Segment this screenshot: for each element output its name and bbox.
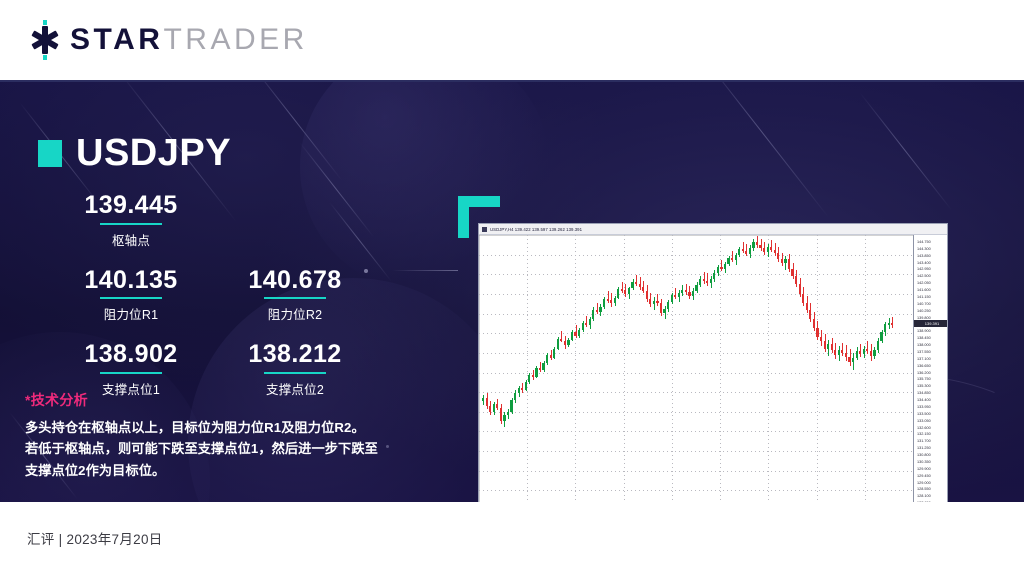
candle-body [735,255,737,260]
candle-body [564,341,566,345]
candle-body [856,351,858,358]
chart-gridline-horizontal [479,412,913,413]
left-panel: USDJPY 139.445 枢轴点 140.135 阻力位R1 140.678 [0,82,440,502]
candle-body [667,302,669,309]
pivot-row: 139.445 枢轴点 [38,192,398,253]
chart-gridline-horizontal [479,333,913,334]
candle-body [763,248,765,252]
chart-gridline-horizontal [479,314,913,315]
candle-body [610,300,612,303]
candle-body [557,339,559,349]
candle-body [788,259,790,269]
chart-title: USDJPY,H4 139.422 139.597 139.262 139.39… [490,227,582,232]
level-pivot-value: 139.445 [84,192,177,223]
candle-body [489,406,491,413]
chart-gridline-horizontal [479,471,913,472]
candle-body [514,393,516,400]
candle-wick [586,316,587,327]
candle-body [542,363,544,370]
candle-body [532,375,534,377]
candle-body [720,267,722,269]
candle-body [873,350,875,356]
chart-gridline-horizontal [479,373,913,374]
asterisk-star-icon [28,20,62,60]
candle-body [603,299,605,306]
candle-body [703,279,705,281]
price-axis-tick: 143.850 [917,254,931,258]
candle-body [770,247,772,250]
candle-body [774,250,776,254]
candle-body [582,323,584,330]
chart-gridline-vertical [624,235,625,502]
technical-analysis: *技术分析 多头持仓在枢轴点以上，目标位为阻力位R1及阻力位R2。 若低于枢轴点… [25,390,425,481]
chart-gridline-vertical [527,235,528,502]
candle-body [884,324,886,331]
price-axis-tick: 133.950 [917,405,931,409]
analysis-line-2: 若低于枢轴点，则可能下跌至支撑点位1，然后进一步下跌至 [25,438,425,459]
site-header: STARTRADER [0,0,1024,82]
candle-body [695,285,697,292]
candle-body [574,332,576,336]
candle-body [685,290,687,292]
chart-window-icon [482,227,487,232]
candle-body [888,323,890,325]
candle-body [607,299,609,301]
candle-body [614,298,616,303]
candle-wick [732,251,733,262]
candle-wick [704,272,705,284]
candle-body [738,249,740,255]
chart-gridline-horizontal [479,490,913,491]
candle-body [827,344,829,348]
price-axis-tick: 144.300 [917,247,931,251]
candle-body [624,290,626,294]
chart-gridline-vertical [575,235,576,502]
candle-body [710,279,712,283]
price-axis-tick: 134.850 [917,391,931,395]
main-stage: USDJPY 139.445 枢轴点 140.135 阻力位R1 140.678 [0,82,1024,502]
chart-gridline-horizontal [479,353,913,354]
candle-body [628,288,630,294]
candle-body [767,247,769,252]
price-axis-tick: 142.950 [917,267,931,271]
price-axis-tick: 141.150 [917,295,931,299]
candle-body [596,310,598,312]
chart-gridline-vertical [720,235,721,502]
candle-body [592,310,594,320]
candle-body [859,351,861,354]
chart-gridline-horizontal [479,451,913,452]
price-axis-tick: 135.750 [917,377,931,381]
candle-body [525,382,527,389]
level-underline [100,372,162,374]
price-axis-tick: 129.900 [917,467,931,471]
candle-body [784,259,786,263]
footer-caption: 汇评 | 2023年7月20日 [27,528,163,548]
candle-wick [636,275,637,286]
candle-body [838,350,840,355]
candle-body [831,344,833,349]
current-price-label: 139.391 [914,320,948,327]
candle-body [852,358,854,362]
level-pivot: 139.445 枢轴点 [56,192,206,253]
price-axis-tick: 140.250 [917,309,931,313]
candle-body [528,375,530,382]
candle-body [759,245,761,248]
brand-wordmark: STARTRADER [70,25,308,55]
price-chart[interactable]: USDJPY,H4 139.422 139.597 139.262 139.39… [478,223,948,502]
chart-titlebar: USDJPY,H4 139.422 139.597 139.262 139.39… [479,224,948,235]
candle-body [642,287,644,291]
price-axis-tick: 131.700 [917,439,931,443]
candle-body [681,290,683,293]
brand-logo[interactable]: STARTRADER [28,20,308,60]
chart-gridline-vertical [817,235,818,502]
price-axis-tick: 133.050 [917,419,931,423]
candle-body [585,323,587,325]
candle-body [493,404,495,412]
candle-body [500,408,502,421]
price-axis-tick: 130.800 [917,453,931,457]
chart-gridline-horizontal [479,274,913,275]
candle-body [824,341,826,348]
level-pivot-label: 枢轴点 [56,230,206,249]
candle-wick [675,288,676,299]
candle-body [834,350,836,356]
candle-body [781,259,783,263]
candle-body [649,299,651,304]
candle-body [671,295,673,302]
level-s2-value: 138.212 [248,341,341,372]
candle-body [866,349,868,351]
candle-body [653,301,655,304]
candle-wick [654,297,655,310]
candle-body [809,310,811,320]
candle-body [656,301,658,303]
candle-body [678,293,680,297]
price-axis-tick: 139.800 [917,316,931,320]
accent-square-icon [38,140,62,167]
price-axis-tick: 128.100 [917,494,931,498]
brand-name-light: TRADER [163,23,307,56]
level-r1-label: 阻力位R1 [56,304,206,323]
price-axis-tick: 132.600 [917,426,931,430]
candle-body [599,307,601,312]
candle-body [891,323,893,325]
candle-body [745,251,747,255]
candle-body [880,332,882,341]
candle-body [539,368,541,370]
candle-body [510,400,512,412]
price-axis-tick: 137.100 [917,357,931,361]
candle-wick [743,242,744,252]
chart-price-axis[interactable]: 144.750144.300143.850143.400142.950142.5… [913,235,948,502]
chart-gridline-horizontal [479,431,913,432]
instrument-heading: USDJPY [38,134,231,172]
chart-gridline-vertical [768,235,769,502]
candle-body [727,258,729,264]
level-r2-label: 阻力位R2 [220,304,370,323]
candle-body [507,412,509,416]
candle-body [571,332,573,340]
candle-body [503,415,505,420]
candle-wick [707,273,708,286]
analysis-line-1: 多头持仓在枢轴点以上，目标位为阻力位R1及阻力位R2。 [25,417,425,438]
candle-body [841,350,843,353]
level-r1-value: 140.135 [84,267,177,298]
price-axis-tick: 135.300 [917,384,931,388]
candle-body [550,355,552,357]
price-axis-tick: 130.350 [917,460,931,464]
site-footer: 汇评 | 2023年7月20日 [0,502,1024,576]
candle-body [799,284,801,294]
price-axis-tick: 138.000 [917,343,931,347]
level-r2-value: 140.678 [248,267,341,298]
candle-body [816,328,818,337]
candle-body [486,398,488,405]
price-axis-tick: 133.500 [917,412,931,416]
candle-body [518,388,520,393]
candle-body [646,291,648,298]
price-axis-tick: 142.500 [917,274,931,278]
price-axis-tick: 129.450 [917,474,931,478]
candle-body [742,249,744,251]
level-underline [100,297,162,299]
candle-body [567,340,569,345]
price-axis-tick: 136.200 [917,371,931,375]
candle-body [546,355,548,362]
level-s1-value: 138.902 [84,341,177,372]
chart-gridline-horizontal [479,255,913,256]
analysis-title: *技术分析 [25,390,425,410]
candle-body [749,248,751,255]
price-axis-tick: 132.150 [917,432,931,436]
price-axis-tick: 138.450 [917,336,931,340]
candle-body [731,258,733,260]
candle-body [578,330,580,336]
candle-body [752,242,754,247]
candle-wick [721,260,722,271]
candle-body [813,319,815,328]
candle-body [688,292,690,296]
candle-body [724,264,726,269]
candle-body [845,353,847,357]
candle-body [639,284,641,287]
level-r2: 140.678 阻力位R2 [220,267,370,328]
candle-body [560,339,562,341]
price-axis-tick: 142.050 [917,281,931,285]
analysis-line-3: 支撑点位2作为目标位。 [25,460,425,481]
candle-body [802,294,804,303]
pivot-levels: 139.445 枢轴点 140.135 阻力位R1 140.678 阻力位R2 [38,192,398,402]
level-underline [100,223,162,225]
candle-body [795,276,797,283]
candle-body [496,404,498,408]
candle-body [674,295,676,297]
price-axis-tick: 137.550 [917,350,931,354]
candle-body [791,269,793,276]
level-underline [264,297,326,299]
candle-body [482,398,484,400]
candle-body [713,273,715,279]
candle-body [863,349,865,354]
chart-gridline-horizontal [479,294,913,295]
candle-wick [597,303,598,314]
price-axis-tick: 144.750 [917,240,931,244]
chart-plot-area[interactable] [479,235,913,502]
candle-body [877,341,879,351]
candle-body [660,303,662,313]
candle-body [706,281,708,283]
chart-gridline-horizontal [479,392,913,393]
candle-body [617,289,619,298]
chart-gridline-vertical [672,235,673,502]
resistance-row: 140.135 阻力位R1 140.678 阻力位R2 [38,267,398,328]
candle-body [589,319,591,325]
brand-name-bold: STAR [70,23,163,56]
price-axis-tick: 140.700 [917,302,931,306]
price-axis-tick: 138.900 [917,329,931,333]
chart-gridline-vertical [865,235,866,502]
candle-body [717,267,719,273]
analysis-body: 多头持仓在枢轴点以上，目标位为阻力位R1及阻力位R2。 若低于枢轴点，则可能下跌… [25,417,425,481]
candle-body [699,279,701,284]
candle-body [553,349,555,358]
price-axis-tick: 129.000 [917,481,931,485]
candle-body [635,282,637,284]
price-axis-tick: 136.650 [917,364,931,368]
candle-body [621,289,623,291]
candle-body [521,388,523,390]
page-title: USDJPY [76,134,231,172]
price-axis-tick: 141.600 [917,288,931,292]
level-r1: 140.135 阻力位R1 [56,267,206,328]
candle-body [820,337,822,341]
candle-body [663,309,665,313]
price-axis-tick: 143.400 [917,261,931,265]
candle-wick [622,282,623,292]
candle-body [535,368,537,377]
price-axis-tick: 131.250 [917,446,931,450]
candle-body [848,357,850,362]
candle-body [692,291,694,295]
price-axis-tick: 128.550 [917,487,931,491]
candle-body [631,282,633,289]
candle-body [777,253,779,258]
candle-wick [867,341,868,354]
price-axis-tick: 134.400 [917,398,931,402]
level-underline [264,372,326,374]
candle-body [870,351,872,356]
candle-body [806,303,808,310]
candle-body [756,242,758,245]
